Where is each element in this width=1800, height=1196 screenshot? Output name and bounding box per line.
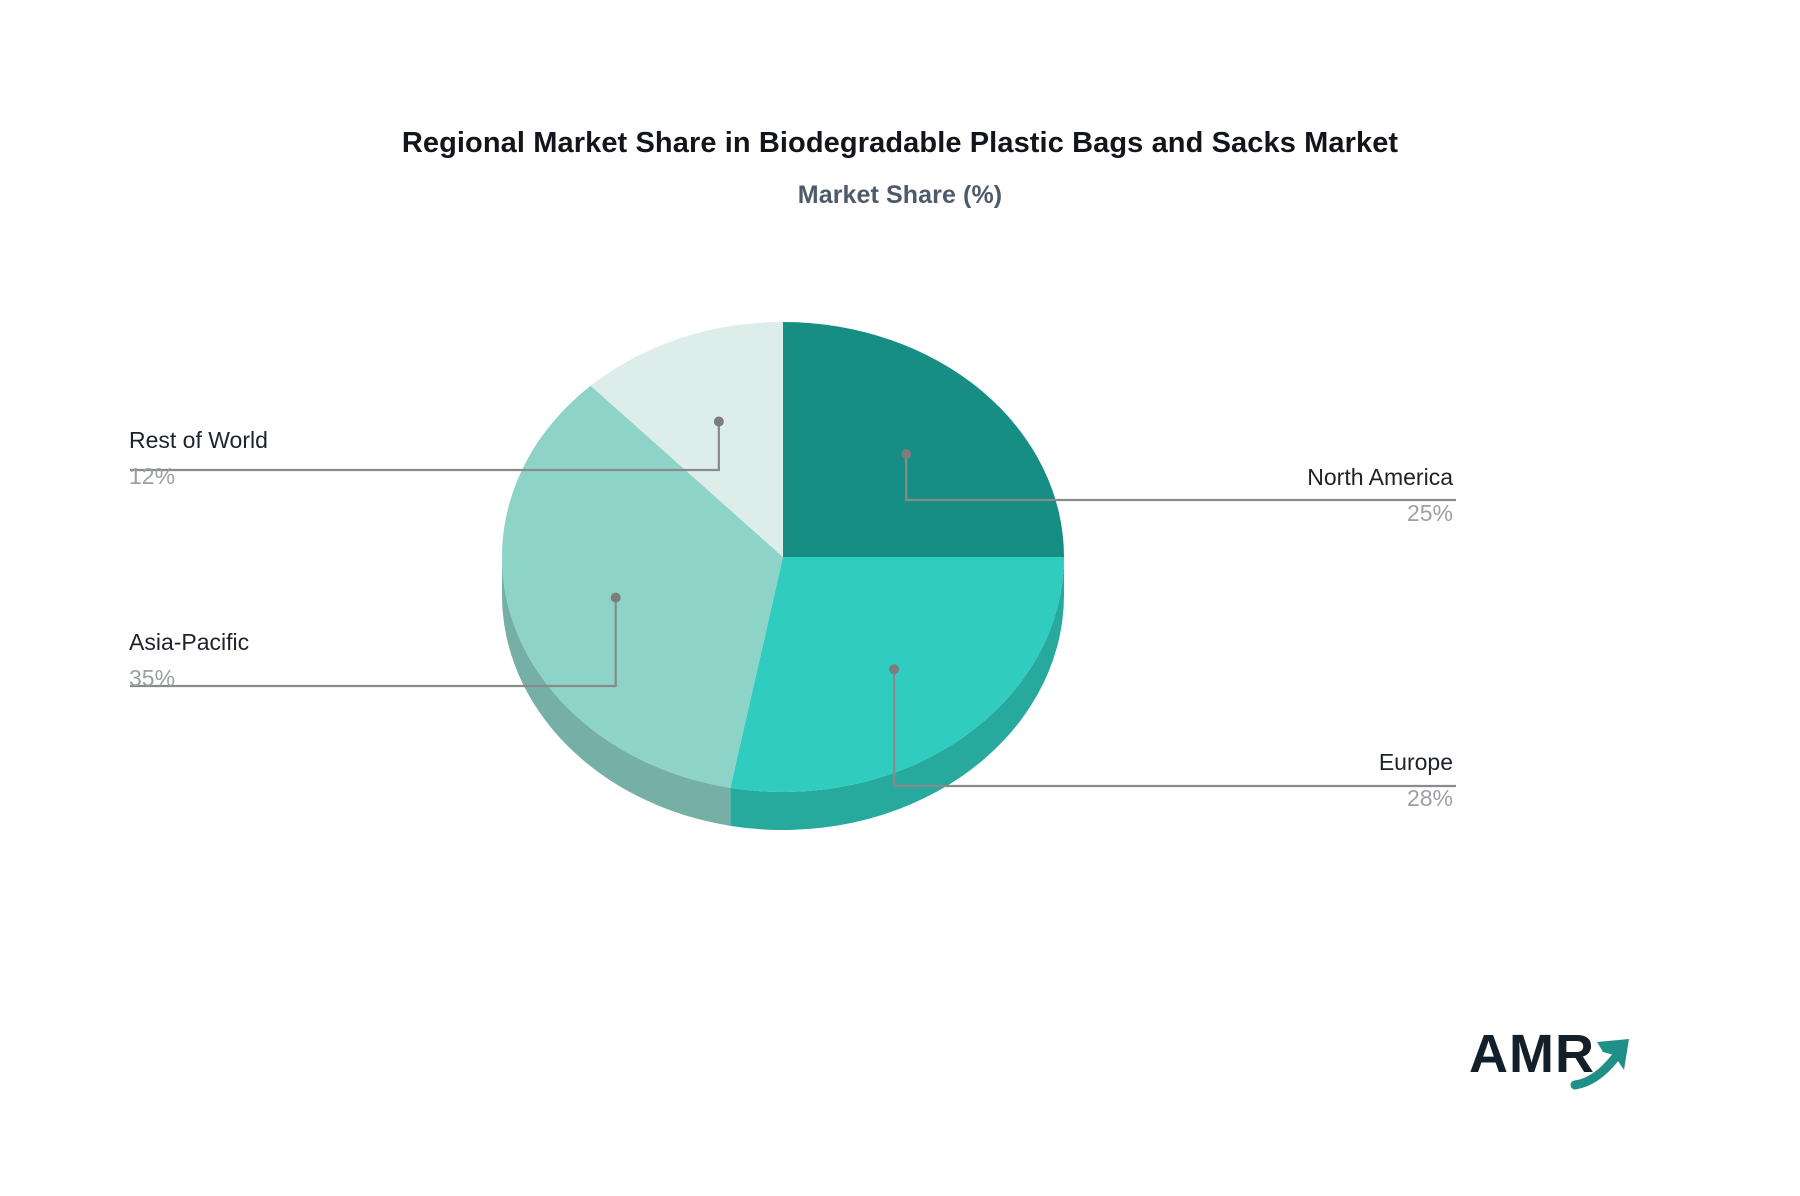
pie-slice-europe[interactable]	[730, 557, 1064, 792]
callout-rest-of-world: Rest of World 12%	[129, 428, 268, 488]
callout-europe: Europe 28%	[1379, 750, 1453, 810]
callout-value: 12%	[129, 464, 268, 488]
callout-label: Rest of World	[129, 428, 268, 452]
callout-label: Asia-Pacific	[129, 630, 249, 654]
leader-dot	[889, 664, 899, 674]
amr-logo-text: AMR	[1469, 1024, 1595, 1084]
pie-slice-north-america[interactable]	[783, 322, 1064, 557]
callout-asia-pacific: Asia-Pacific 35%	[129, 630, 249, 690]
leader-dot	[901, 449, 911, 459]
pie-slices	[502, 322, 1064, 792]
leader-dot	[714, 417, 724, 427]
pie-chart	[0, 0, 1800, 1196]
amr-logo: AMR	[1469, 1022, 1639, 1092]
callout-value: 28%	[1379, 786, 1453, 810]
callout-label: Europe	[1379, 750, 1453, 774]
chart-canvas: Regional Market Share in Biodegradable P…	[0, 0, 1800, 1196]
callout-value: 25%	[1307, 501, 1453, 525]
pie-svg	[0, 0, 1800, 1196]
callout-value: 35%	[129, 666, 249, 690]
callout-north-america: North America 25%	[1307, 465, 1453, 525]
callout-label: North America	[1307, 465, 1453, 489]
leader-dot	[611, 593, 621, 603]
